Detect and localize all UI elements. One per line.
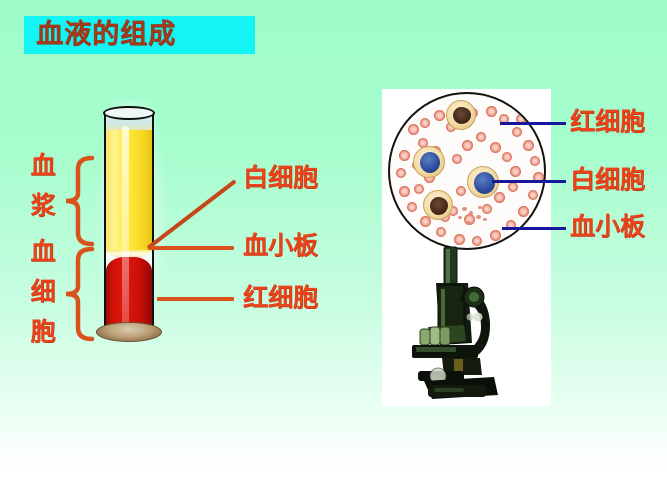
red-blood-cell [408, 124, 419, 135]
red-blood-cell [508, 182, 518, 192]
platelet [466, 221, 471, 225]
red-blood-cell [452, 154, 462, 164]
brace-plasma [62, 155, 96, 247]
label-plasma: 血 浆 [28, 146, 58, 226]
red-blood-cell [396, 168, 406, 178]
platelet [478, 206, 482, 209]
red-blood-cell [490, 230, 501, 241]
field-label-rbc: 红细胞 [570, 108, 645, 136]
pointer-line-rbc [157, 297, 234, 301]
platelet [476, 215, 481, 219]
red-blood-cell [528, 190, 538, 200]
platelet [458, 216, 462, 219]
pointer-label-rbc: 红细胞 [243, 284, 318, 312]
label-plasma-char-1: 血 [28, 146, 58, 186]
pointer-label-wbc: 白细胞 [243, 164, 318, 192]
label-blood-cells-char-2: 细 [28, 272, 58, 312]
tube-glass-highlight [122, 126, 129, 336]
red-blood-cell [502, 152, 512, 162]
label-plasma-char-2: 浆 [28, 186, 58, 226]
platelet [483, 218, 487, 221]
red-blood-cell [436, 227, 446, 237]
red-blood-cell [399, 150, 410, 161]
field-label-platelet: 血小板 [570, 213, 645, 241]
red-blood-cell [414, 184, 424, 194]
red-blood-cell [454, 234, 465, 245]
red-blood-cell [482, 204, 492, 214]
microscope-icon [398, 245, 526, 405]
red-blood-cell [518, 206, 529, 217]
red-blood-cell [434, 110, 445, 121]
tube-plasma-layer [106, 130, 152, 252]
wbc-nucleus [430, 197, 448, 215]
white-blood-cell [423, 190, 453, 220]
leader-line-platelet [502, 227, 566, 230]
label-blood-cells: 血 细 胞 [28, 232, 58, 352]
tube-glass-body [104, 112, 154, 336]
wbc-nucleus [474, 172, 495, 194]
red-blood-cell [476, 132, 486, 142]
page-title: 血液的组成 [36, 19, 176, 51]
leader-line-rbc [500, 122, 566, 125]
pointer-line-platelet [148, 246, 234, 250]
field-label-wbc: 白细胞 [570, 166, 645, 194]
red-blood-cell [510, 166, 521, 177]
wbc-nucleus [420, 152, 440, 173]
red-blood-cell [494, 192, 505, 203]
platelet [462, 207, 467, 211]
wbc-nucleus [453, 107, 471, 124]
red-blood-cell [399, 186, 410, 197]
label-blood-cells-char-3: 胞 [28, 312, 58, 352]
red-blood-cell [456, 186, 466, 196]
red-blood-cell [407, 202, 417, 212]
test-tube [95, 100, 167, 350]
leader-line-wbc [492, 180, 566, 183]
red-blood-cell [512, 127, 522, 137]
red-blood-cell [530, 156, 540, 166]
slide-canvas: 血液的组成 血 浆 血 细 胞 [0, 0, 667, 500]
pointer-label-platelet: 血小板 [243, 232, 318, 260]
red-blood-cell [490, 142, 501, 153]
brace-blood-cells [62, 246, 96, 342]
red-blood-cell [523, 140, 534, 151]
platelet [469, 211, 473, 215]
white-blood-cell [446, 100, 476, 130]
label-blood-cells-char-1: 血 [28, 232, 58, 272]
red-blood-cell [462, 140, 473, 151]
red-blood-cell [486, 106, 497, 117]
red-blood-cell [420, 118, 430, 128]
white-blood-cell [413, 146, 445, 178]
tube-rim [103, 106, 155, 120]
tube-stand-base [96, 322, 162, 342]
